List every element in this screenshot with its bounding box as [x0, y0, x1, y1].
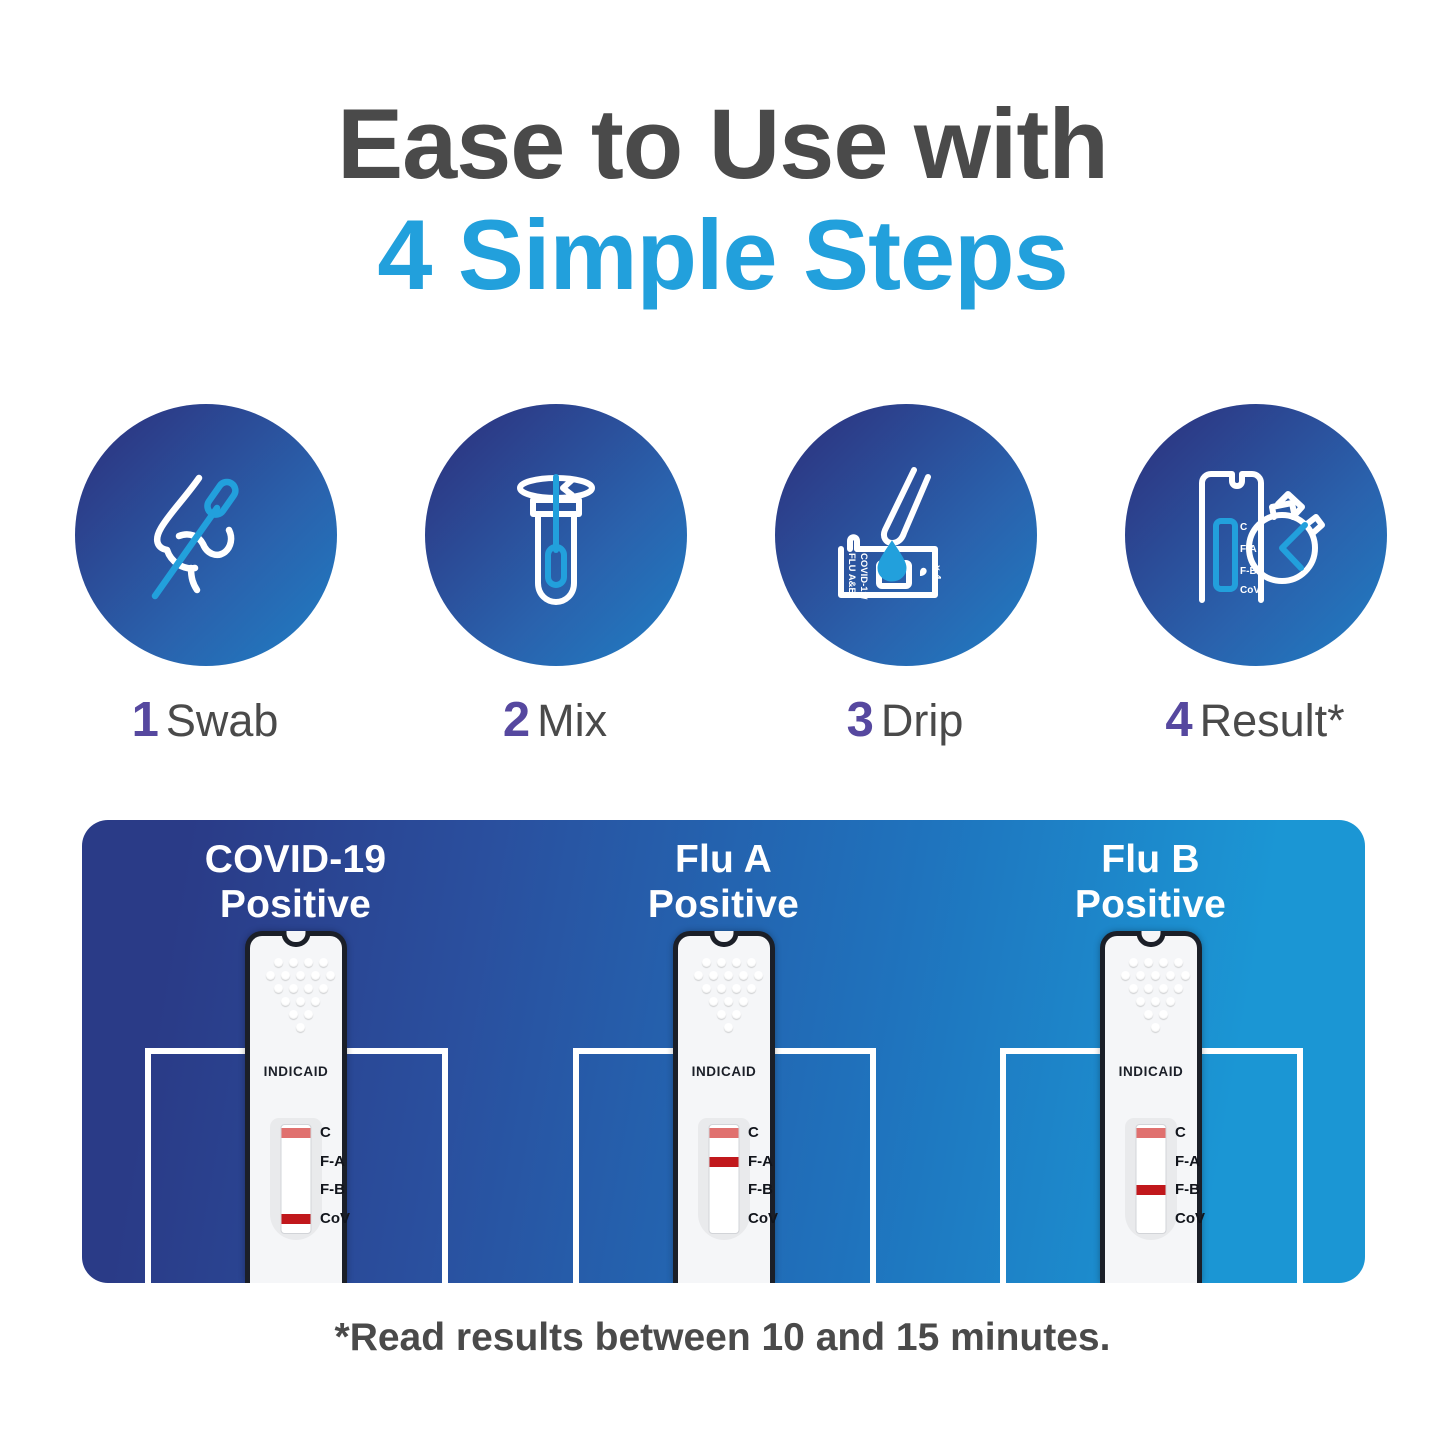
- cassette-notch: [710, 931, 739, 947]
- step-2-label: 2Mix: [380, 692, 730, 748]
- band-label-fa: F-A: [1175, 1154, 1200, 1169]
- test-cassette: INDICAID C F-A F-B CoV: [1100, 931, 1202, 1283]
- band-fa: [710, 1157, 739, 1167]
- step-2-number: 2: [503, 693, 530, 747]
- nasal-swab-icon: [121, 450, 291, 620]
- result-column-flub-title: Flu B Positive: [937, 837, 1364, 927]
- cassette-notch: [282, 931, 311, 947]
- band-c: [1137, 1128, 1166, 1138]
- step-3-drip: COVID-19/ FLU A&B x 4 3Drip: [730, 404, 1080, 784]
- band-label-fa: F-A: [320, 1154, 345, 1169]
- band-fa: [1137, 1157, 1166, 1167]
- cassette-grip-dots: [250, 956, 342, 1034]
- band-fb: [710, 1185, 739, 1195]
- test-cassette: INDICAID C F-A F-B CoV: [245, 931, 347, 1283]
- icon-band-label-cov: CoV: [1240, 585, 1260, 596]
- cassette-timer-icon: C F-A F-B CoV: [1166, 445, 1346, 625]
- band-label-cov: CoV: [1175, 1211, 1205, 1226]
- step-3-icon-circle: COVID-19/ FLU A&B x 4: [775, 404, 1037, 666]
- cassette-brand: INDICAID: [1105, 1064, 1197, 1079]
- band-label-fb: F-B: [320, 1182, 345, 1197]
- step-4-text: Result*: [1200, 695, 1345, 746]
- step-3-text: Drip: [881, 695, 964, 746]
- cassette-grip-dots: [1105, 956, 1197, 1034]
- cassette-grip-dots: [678, 956, 770, 1034]
- step-2-mix: 2Mix: [380, 404, 730, 784]
- band-label-fb: F-B: [748, 1182, 773, 1197]
- band-cov: [710, 1214, 739, 1224]
- steps-row: 1Swab 2M: [0, 404, 1445, 784]
- step-3-number: 3: [847, 693, 874, 747]
- cassette-test-strip: [281, 1124, 312, 1234]
- result-title-line-1: Flu A: [510, 837, 937, 882]
- title-line-2: 4 Simple Steps: [0, 196, 1445, 314]
- result-column-flua-title: Flu A Positive: [510, 837, 937, 927]
- band-c: [282, 1128, 311, 1138]
- result-title-line-2: Positive: [510, 882, 937, 927]
- band-label-c: C: [320, 1125, 331, 1140]
- band-fa: [282, 1157, 311, 1167]
- band-cov: [1137, 1214, 1166, 1224]
- cassette-test-strip: [709, 1124, 740, 1234]
- band-label-cov: CoV: [748, 1211, 778, 1226]
- band-fb: [282, 1185, 311, 1195]
- result-column-flua: Flu A Positive INDICAID C F-A F-B: [510, 820, 937, 1283]
- step-1-swab: 1Swab: [30, 404, 380, 784]
- page-title: Ease to Use with 4 Simple Steps: [0, 92, 1445, 314]
- infographic-stage: Ease to Use with 4 Simple Steps: [0, 0, 1445, 1445]
- footnote: *Read results between 10 and 15 minutes.: [0, 1316, 1445, 1360]
- step-4-result: C F-A F-B CoV 4Result*: [1080, 404, 1430, 784]
- step-4-label: 4Result*: [1080, 692, 1430, 748]
- icon-band-label-c: C: [1240, 522, 1247, 533]
- result-column-covid-title: COVID-19 Positive: [82, 837, 509, 927]
- result-title-line-2: Positive: [937, 882, 1364, 927]
- icon-band-label-fb: F-B: [1240, 566, 1257, 577]
- step-4-icon-circle: C F-A F-B CoV: [1125, 404, 1387, 666]
- band-label-fb: F-B: [1175, 1182, 1200, 1197]
- band-fb: [1137, 1185, 1166, 1195]
- cassette-brand: INDICAID: [678, 1064, 770, 1079]
- band-c: [710, 1128, 739, 1138]
- result-column-flub: Flu B Positive INDICAID C F-A F-B: [937, 820, 1364, 1283]
- band-label-c: C: [1175, 1125, 1186, 1140]
- result-column-covid: COVID-19 Positive INDICAID C F-A F-: [82, 820, 509, 1283]
- cassette-notch: [1137, 931, 1166, 947]
- title-line-1: Ease to Use with: [0, 92, 1445, 196]
- cassette-test-strip: [1136, 1124, 1167, 1234]
- result-title-line-1: Flu B: [937, 837, 1364, 882]
- step-1-number: 1: [132, 693, 159, 747]
- step-4-number: 4: [1165, 693, 1192, 747]
- step-3-label: 3Drip: [730, 692, 1080, 748]
- band-label-cov: CoV: [320, 1211, 350, 1226]
- test-tube-swirl-icon: [471, 450, 641, 620]
- results-panel: COVID-19 Positive INDICAID C F-A F-: [82, 820, 1365, 1283]
- step-1-text: Swab: [166, 695, 279, 746]
- step-1-icon-circle: [75, 404, 337, 666]
- cassette-brand: INDICAID: [250, 1064, 342, 1079]
- dropper-cassette-icon: COVID-19/ FLU A&B x 4: [816, 445, 996, 625]
- band-cov: [282, 1214, 311, 1224]
- step-2-text: Mix: [537, 695, 607, 746]
- band-label-c: C: [748, 1125, 759, 1140]
- icon-drops-count: x 4: [931, 565, 943, 580]
- icon-cassette-label-line2: FLU A&B: [846, 553, 857, 594]
- band-label-fa: F-A: [748, 1154, 773, 1169]
- step-2-icon-circle: [425, 404, 687, 666]
- icon-band-label-fa: F-A: [1240, 544, 1257, 555]
- step-1-label: 1Swab: [30, 692, 380, 748]
- result-title-line-1: COVID-19: [82, 837, 509, 882]
- test-cassette: INDICAID C F-A F-B CoV: [673, 931, 775, 1283]
- icon-cassette-label-line1: COVID-19/: [858, 553, 869, 600]
- result-title-line-2: Positive: [82, 882, 509, 927]
